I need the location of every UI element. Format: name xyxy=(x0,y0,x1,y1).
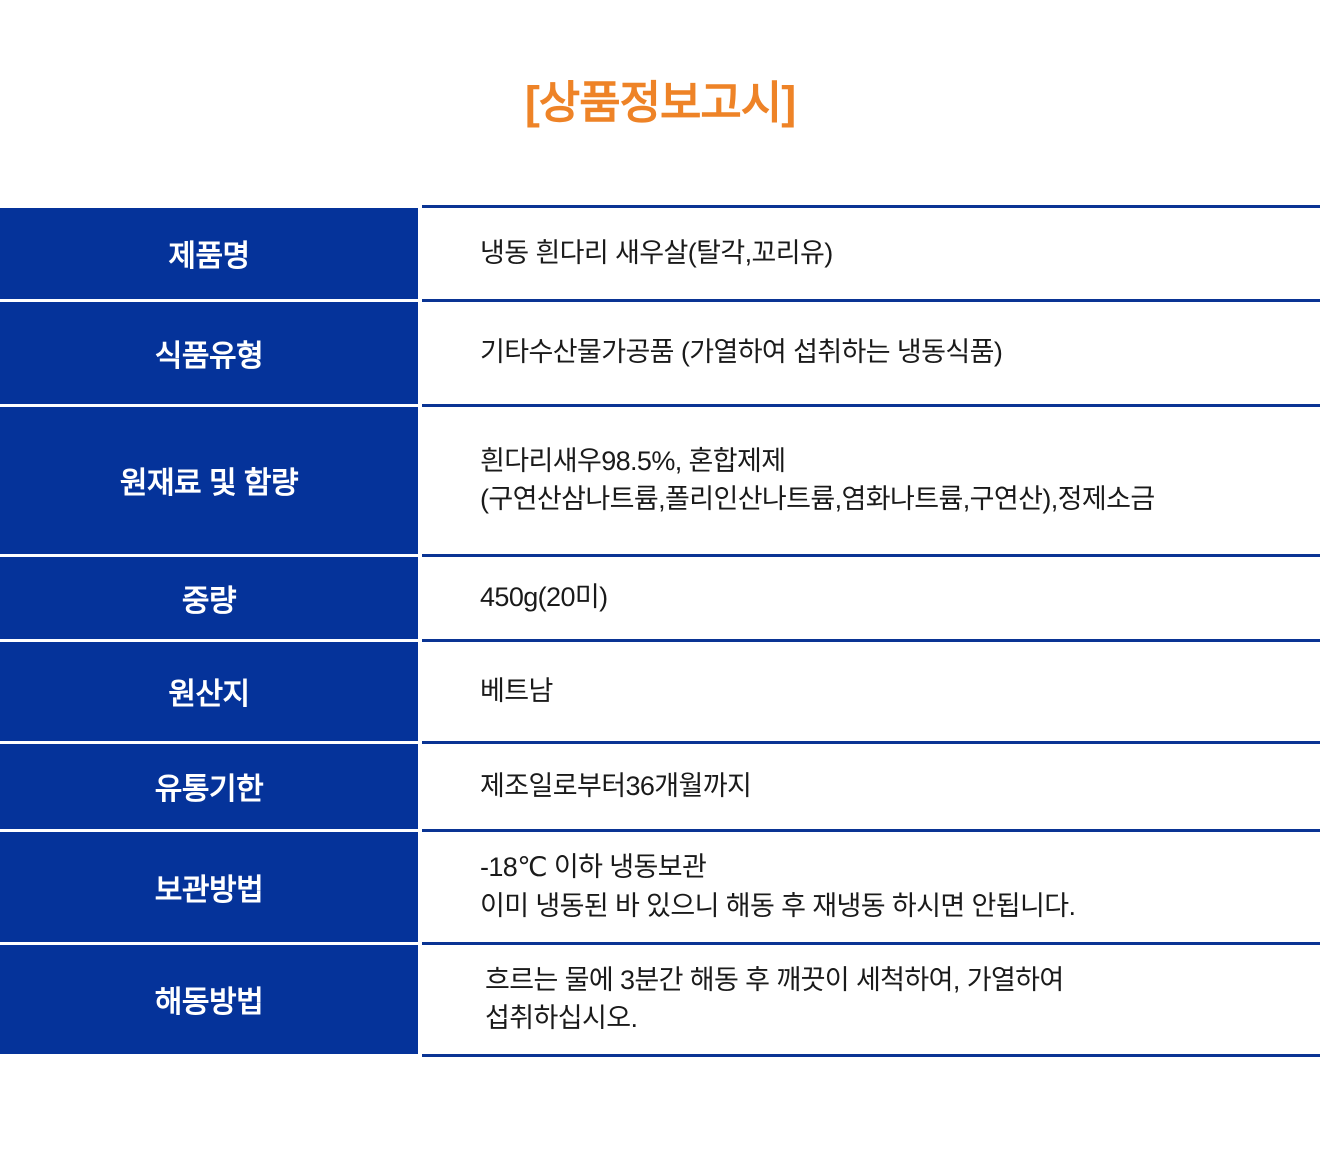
value-line: 흰다리새우98.5%, 혼합제제 xyxy=(480,442,1302,480)
row-value-expiry: 제조일로부터36개월까지 xyxy=(422,742,1320,830)
value-line: -18℃ 이하 냉동보관 xyxy=(480,848,1302,886)
value-line: 섭취하십시오. xyxy=(485,999,1302,1037)
page-title: [상품정보고시] xyxy=(525,80,795,125)
row-value-product-name: 냉동 흰다리 새우살(탈각,꼬리유) xyxy=(422,208,1320,300)
value-line: 이미 냉동된 바 있으니 해동 후 재냉동 하시면 안됩니다. xyxy=(480,887,1302,925)
value-line: 베트남 xyxy=(480,672,1302,710)
value-line: 제조일로부터36개월까지 xyxy=(480,767,1302,805)
row-label-product-name: 제품명 xyxy=(0,208,418,300)
row-value-weight: 450g(20미) xyxy=(422,555,1320,640)
table-row: 제품명 냉동 흰다리 새우살(탈각,꼬리유) xyxy=(0,208,1320,300)
table-row: 원재료 및 함량 흰다리새우98.5%, 혼합제제 (구연산삼나트륨,폴리인산나… xyxy=(0,405,1320,555)
row-label-expiry: 유통기한 xyxy=(0,742,418,830)
row-label-ingredients: 원재료 및 함량 xyxy=(0,405,418,555)
row-value-food-type: 기타수산물가공품 (가열하여 섭취하는 냉동식품) xyxy=(422,300,1320,405)
row-value-thawing: 흐르는 물에 3분간 해동 후 깨끗이 세척하여, 가열하여 섭취하십시오. xyxy=(422,943,1320,1055)
table-row: 식품유형 기타수산물가공품 (가열하여 섭취하는 냉동식품) xyxy=(0,300,1320,405)
value-line: 기타수산물가공품 (가열하여 섭취하는 냉동식품) xyxy=(480,333,1302,371)
value-line: 냉동 흰다리 새우살(탈각,꼬리유) xyxy=(480,234,1302,272)
row-value-ingredients: 흰다리새우98.5%, 혼합제제 (구연산삼나트륨,폴리인산나트륨,염화나트륨,… xyxy=(422,405,1320,555)
row-value-storage: -18℃ 이하 냉동보관 이미 냉동된 바 있으니 해동 후 재냉동 하시면 안… xyxy=(422,830,1320,943)
row-label-storage: 보관방법 xyxy=(0,830,418,943)
page-title-container: [상품정보고시] xyxy=(0,0,1320,205)
row-value-origin: 베트남 xyxy=(422,640,1320,742)
table-row: 원산지 베트남 xyxy=(0,640,1320,742)
value-line: 흐르는 물에 3분간 해동 후 깨끗이 세척하여, 가열하여 xyxy=(485,961,1302,999)
product-info-table: 제품명 냉동 흰다리 새우살(탈각,꼬리유) 식품유형 기타수산물가공품 (가열… xyxy=(0,205,1320,1057)
table-row: 중량 450g(20미) xyxy=(0,555,1320,640)
row-label-origin: 원산지 xyxy=(0,640,418,742)
value-line: (구연산삼나트륨,폴리인산나트륨,염화나트륨,구연산),정제소금 xyxy=(480,480,1302,518)
row-label-weight: 중량 xyxy=(0,555,418,640)
table-row: 보관방법 -18℃ 이하 냉동보관 이미 냉동된 바 있으니 해동 후 재냉동 … xyxy=(0,830,1320,943)
product-info-page: [상품정보고시] 제품명 냉동 흰다리 새우살(탈각,꼬리유) 식품유형 xyxy=(0,0,1320,1149)
row-label-food-type: 식품유형 xyxy=(0,300,418,405)
table-row: 유통기한 제조일로부터36개월까지 xyxy=(0,742,1320,830)
table-row: 해동방법 흐르는 물에 3분간 해동 후 깨끗이 세척하여, 가열하여 섭취하십… xyxy=(0,943,1320,1055)
value-line: 450g(20미) xyxy=(480,578,1302,616)
row-label-thawing: 해동방법 xyxy=(0,943,418,1055)
